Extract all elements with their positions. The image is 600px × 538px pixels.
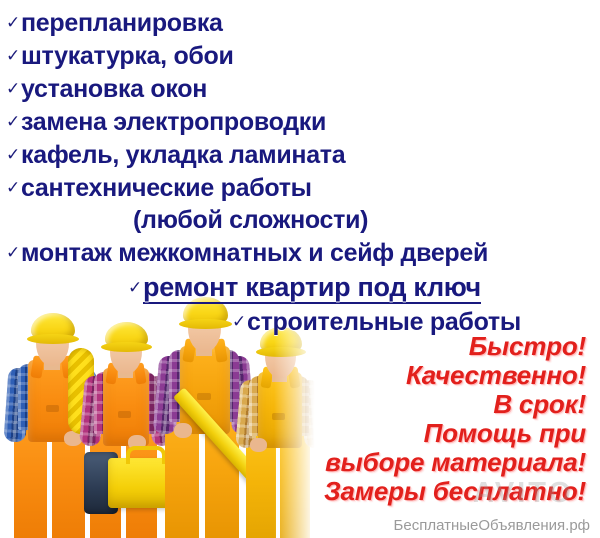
service-label: (любой сложности): [133, 206, 368, 234]
service-label: кафель, укладка ламината: [21, 141, 345, 169]
checkmark-icon: ✓: [6, 141, 21, 169]
service-item: ✓установка окон: [6, 75, 600, 106]
service-label: замена электропроводки: [21, 108, 326, 136]
checkmark-icon: ✓: [6, 174, 21, 202]
service-label: монтаж межкомнатных и сейф дверей: [21, 239, 488, 267]
slogan-line: Замеры бесплатно!: [324, 477, 586, 506]
slogan-line: В срок!: [324, 390, 586, 419]
service-item-highlight: ✓ремонт квартир под ключ: [128, 272, 600, 305]
checkmark-icon: ✓: [128, 274, 143, 302]
service-label: штукатурка, обои: [21, 42, 234, 70]
service-item: ✓замена электропроводки: [6, 108, 600, 139]
service-item: ✓перепланировка: [6, 9, 600, 40]
service-label: сантехнические работы: [21, 174, 312, 202]
service-label: перепланировка: [21, 9, 223, 37]
checkmark-icon: ✓: [6, 108, 21, 136]
service-item: ✓кафель, укладка ламината: [6, 141, 600, 172]
service-label: установка окон: [21, 75, 207, 103]
site-watermark: БесплатныеОбъявления.рф: [394, 517, 590, 534]
checkmark-icon: ✓: [6, 42, 21, 70]
checkmark-icon: ✓: [6, 9, 21, 37]
slogan-line: Помощь при: [324, 419, 586, 448]
service-item-continuation: ✓(любой сложности): [118, 206, 600, 237]
advertisement-poster: ✓перепланировка ✓штукатурка, обои ✓устан…: [0, 0, 600, 538]
slogan-line: выборе материала!: [324, 448, 586, 477]
slogans-block: Быстро! Качественно! В срок! Помощь при …: [324, 332, 586, 506]
service-label: ремонт квартир под ключ: [143, 272, 481, 304]
checkmark-icon: ✓: [6, 239, 21, 267]
services-list: ✓перепланировка ✓штукатурка, обои ✓устан…: [0, 0, 600, 339]
slogan-line: Быстро!: [324, 332, 586, 361]
slogan-line: Качественно!: [324, 361, 586, 390]
checkmark-icon: ✓: [6, 75, 21, 103]
service-item: ✓сантехнические работы: [6, 174, 600, 205]
service-item: ✓штукатурка, обои: [6, 42, 600, 73]
service-item: ✓монтаж межкомнатных и сейф дверей: [6, 239, 600, 270]
checkmark-icon: ✓: [232, 308, 247, 336]
